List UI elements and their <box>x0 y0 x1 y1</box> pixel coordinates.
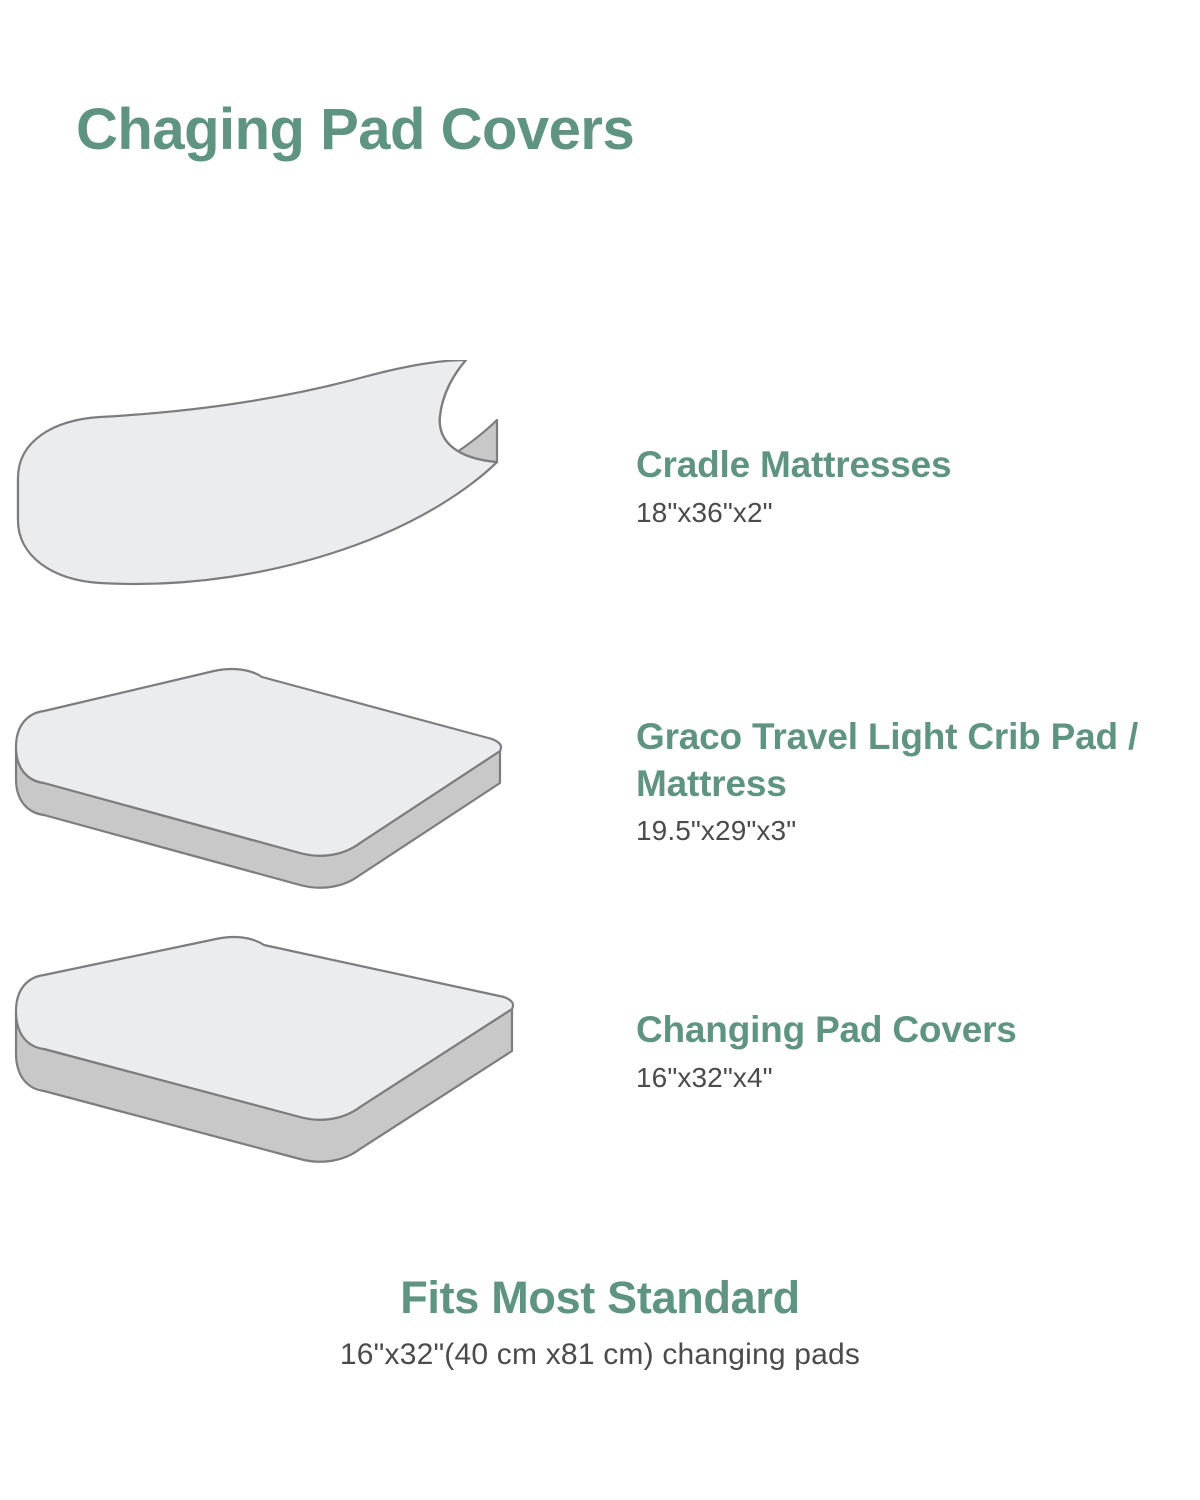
infographic-root: Chaging Pad Covers Cradle Mattresses 18"… <box>0 0 1200 1500</box>
contoured-changing-pad-illustration <box>0 360 600 610</box>
product-text-block: Graco Travel Light Crib Pad / Mattress 1… <box>600 713 1200 848</box>
product-dimensions: 19.5"x29"x3" <box>636 815 1180 847</box>
product-text-block: Changing Pad Covers 16"x32"x4" <box>600 1006 1200 1093</box>
footer-headline: Fits Most Standard <box>0 1272 1200 1324</box>
product-text-block: Cradle Mattresses 18"x36"x2" <box>600 441 1200 528</box>
product-row: Cradle Mattresses 18"x36"x2" <box>0 360 1200 610</box>
footer-subtext: 16"x32"(40 cm x81 cm) changing pads <box>0 1338 1200 1372</box>
product-dimensions: 16"x32"x4" <box>636 1062 1180 1094</box>
page-title: Chaging Pad Covers <box>76 98 634 162</box>
footer-block: Fits Most Standard 16"x32"(40 cm x81 cm)… <box>0 1272 1200 1372</box>
product-row: Changing Pad Covers 16"x32"x4" <box>0 935 1200 1165</box>
flat-crib-mattress-illustration <box>0 665 600 895</box>
product-name: Cradle Mattresses <box>636 441 1180 488</box>
product-row: Graco Travel Light Crib Pad / Mattress 1… <box>0 665 1200 895</box>
product-dimensions: 18"x36"x2" <box>636 497 1180 529</box>
product-name: Graco Travel Light Crib Pad / Mattress <box>636 713 1180 808</box>
thick-changing-pad-illustration <box>0 935 600 1165</box>
product-name: Changing Pad Covers <box>636 1006 1180 1053</box>
